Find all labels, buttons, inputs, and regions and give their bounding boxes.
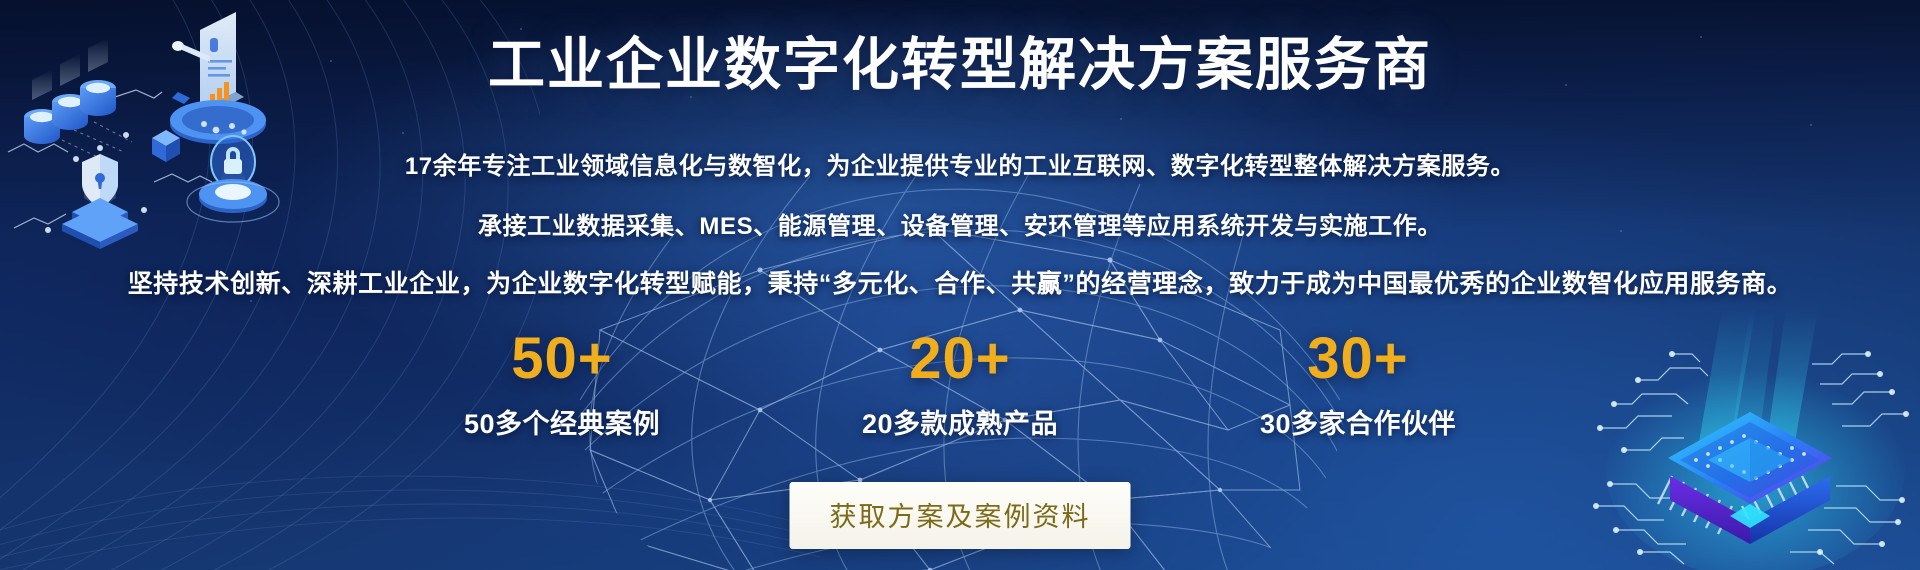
stat-label: 30多家合作伙伴 xyxy=(1233,402,1483,441)
get-solution-materials-button[interactable]: 获取方案及案例资料 xyxy=(790,482,1131,549)
stat-number: 20+ xyxy=(835,330,1085,388)
page-title: 工业企业数字化转型解决方案服务商 xyxy=(0,36,1920,96)
stat-label: 20多款成熟产品 xyxy=(835,402,1085,441)
stat-item-products: 20+ 20多款成熟产品 xyxy=(835,330,1085,441)
subtitle-line-2: 承接工业数据采集、MES、能源管理、设备管理、安环管理等应用系统开发与实施工作。 xyxy=(0,206,1920,241)
stat-item-partners: 30+ 30多家合作伙伴 xyxy=(1233,330,1483,441)
stat-label: 50多个经典案例 xyxy=(437,402,687,441)
stat-item-cases: 50+ 50多个经典案例 xyxy=(437,330,687,441)
banner-content: 工业企业数字化转型解决方案服务商 17余年专注工业领域信息化与数智化，为企业提供… xyxy=(0,0,1920,570)
stat-number: 30+ xyxy=(1233,330,1483,388)
subtitle-line-3: 坚持技术创新、深耕工业企业，为企业数字化转型赋能，秉持“多元化、合作、共赢”的经… xyxy=(0,264,1920,300)
stats-row: 50+ 50多个经典案例 20+ 20多款成熟产品 30+ 30多家合作伙伴 xyxy=(437,330,1483,441)
marketing-banner: 工业企业数字化转型解决方案服务商 17余年专注工业领域信息化与数智化，为企业提供… xyxy=(0,0,1920,570)
stat-number: 50+ xyxy=(437,330,687,388)
subtitle-line-1: 17余年专注工业领域信息化与数智化，为企业提供专业的工业互联网、数字化转型整体解… xyxy=(0,146,1920,181)
